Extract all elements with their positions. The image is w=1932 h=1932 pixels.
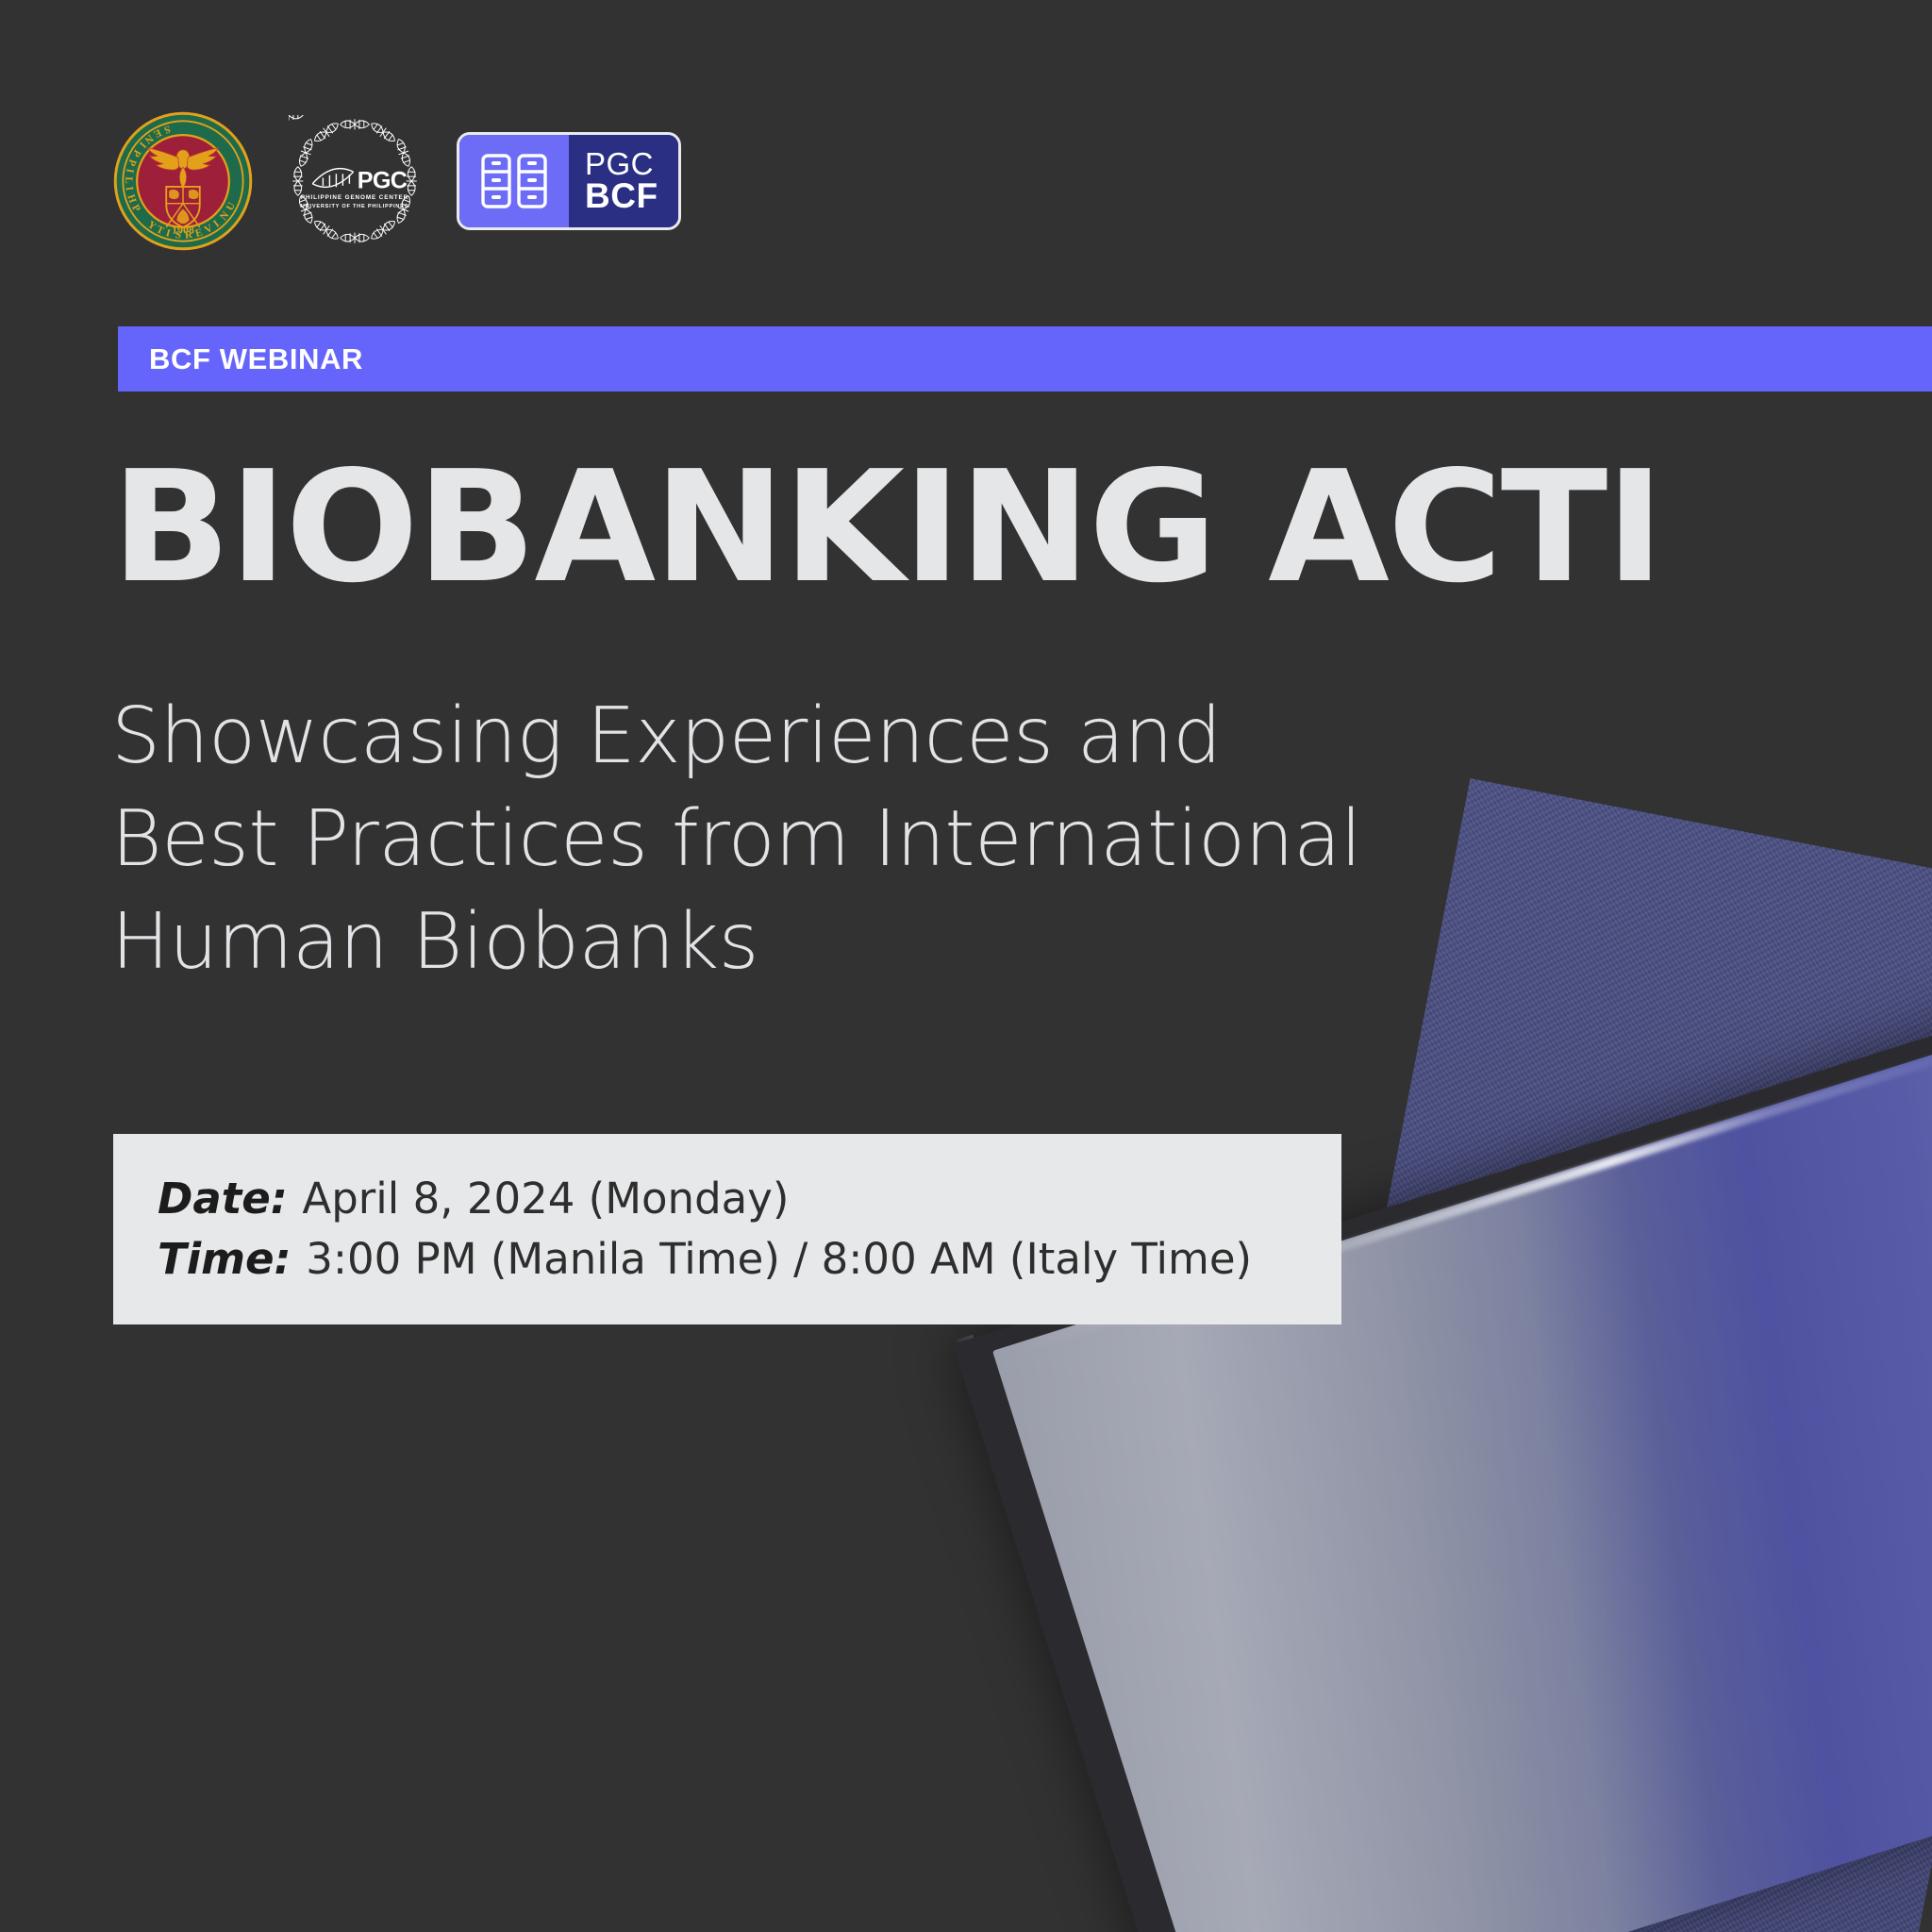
bcf-badge-bcf-label: BCF [585,178,658,213]
event-info-box: Date: April 8, 2024 (Monday) Time: 3:00 … [113,1134,1341,1324]
event-time-value: 3:00 PM (Manila Time) / 8:00 AM (Italy T… [306,1234,1252,1284]
up-seal-icon: OF THE U N I V E R S I T Y P H I L I P [113,111,253,251]
pgc-logo-icon: PGC PHILIPPINE GENOME CENTER UNIVERSITY … [289,115,421,247]
subtitle-line-2: Best Practices from International [111,788,1361,891]
pgc-bcf-badge: PGC BCF [457,132,681,230]
banner-label: BCF WEBINAR [149,342,363,376]
page-subtitle: Showcasing Experiences and Best Practice… [111,685,1361,993]
event-date-row: Date: April 8, 2024 (Monday) [158,1169,1341,1229]
svg-text:UNIVERSITY OF THE PHILIPPINES: UNIVERSITY OF THE PHILIPPINES [301,204,408,209]
server-rack-icon [479,151,549,211]
event-time-label: Time: [158,1234,306,1284]
subtitle-line-1: Showcasing Experiences and [111,685,1361,788]
event-time-row: Time: 3:00 PM (Manila Time) / 8:00 AM (I… [158,1229,1341,1290]
webinar-poster: OF THE U N I V E R S I T Y P H I L I P [0,0,1932,1932]
logo-row: OF THE U N I V E R S I T Y P H I L I P [113,111,681,251]
subtitle-line-3: Human Biobanks [111,891,1361,993]
svg-text:PHILIPPINE GENOME CENTER: PHILIPPINE GENOME CENTER [301,194,408,201]
bcf-badge-pgc-label: PGC [585,149,654,178]
event-date-label: Date: [158,1174,302,1224]
page-title: BIOBANKING ACTI [111,451,1662,605]
svg-text:L: L [123,176,134,184]
bcf-icon-panel [459,135,569,227]
svg-text:PGC: PGC [358,168,408,194]
webinar-banner: BCF WEBINAR [118,326,1932,391]
bcf-text-panel: PGC BCF [569,135,678,227]
event-date-value: April 8, 2024 (Monday) [302,1174,789,1224]
panel-edge-shape [957,1335,1200,1932]
